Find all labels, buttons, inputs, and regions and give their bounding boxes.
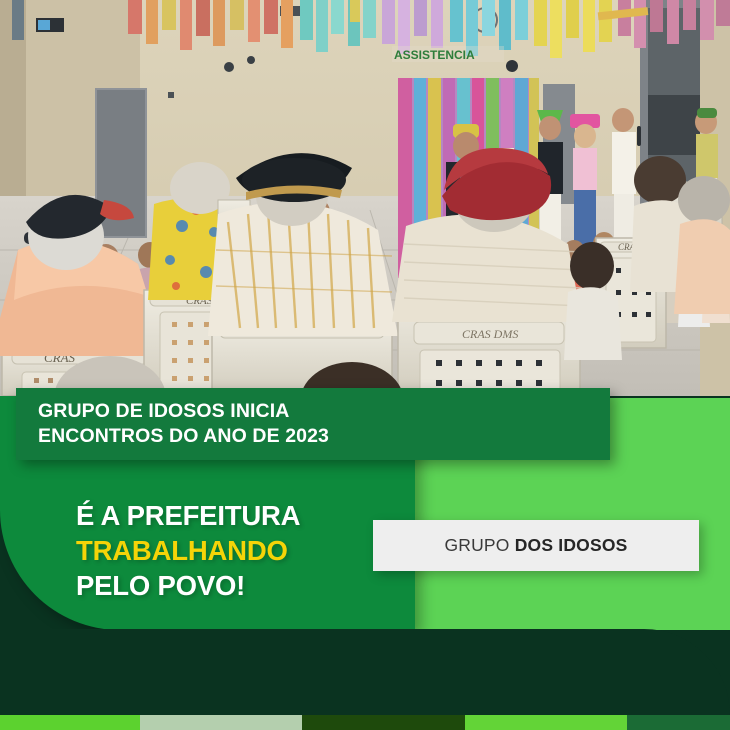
svg-text:CRAS DMS: CRAS DMS — [462, 327, 518, 341]
slogan-line-3: PELO POVO! — [76, 568, 406, 603]
strip-segment-5 — [627, 715, 730, 730]
strip-segment-1 — [0, 715, 140, 730]
headline-box: GRUPO DE IDOSOS INICIA ENCONTROS DO ANO … — [16, 388, 610, 460]
group-tag-bold: DOS IDOSOS — [515, 535, 628, 555]
headline-line-2: ENCONTROS DO ANO DE 2023 — [38, 424, 610, 449]
strip-segment-3 — [302, 715, 465, 730]
svg-text:ASSISTENCIA: ASSISTENCIA — [394, 48, 475, 62]
poster-root: ASSISTENCIA — [0, 0, 730, 730]
strip-segment-4 — [465, 715, 627, 730]
footer-bar: UMA CIDADE DE TODOS PREFEITURA DE OURO B… — [0, 629, 730, 715]
bottom-color-strip — [0, 715, 730, 730]
group-tag-text: GRUPO DOS IDOSOS — [444, 535, 627, 556]
group-tag-box: GRUPO DOS IDOSOS — [373, 520, 699, 571]
event-photo-illustration: ASSISTENCIA — [0, 0, 730, 396]
strip-segment-2 — [140, 715, 302, 730]
headline-line-1: GRUPO DE IDOSOS INICIA — [38, 399, 610, 424]
slogan-line-1: É A PREFEITURA — [76, 498, 406, 533]
slogan-block: É A PREFEITURA TRABALHANDO PELO POVO! — [76, 498, 406, 603]
slogan-line-2: TRABALHANDO — [76, 533, 406, 568]
group-tag-prefix: GRUPO — [444, 535, 509, 555]
event-photo: ASSISTENCIA — [0, 0, 730, 396]
